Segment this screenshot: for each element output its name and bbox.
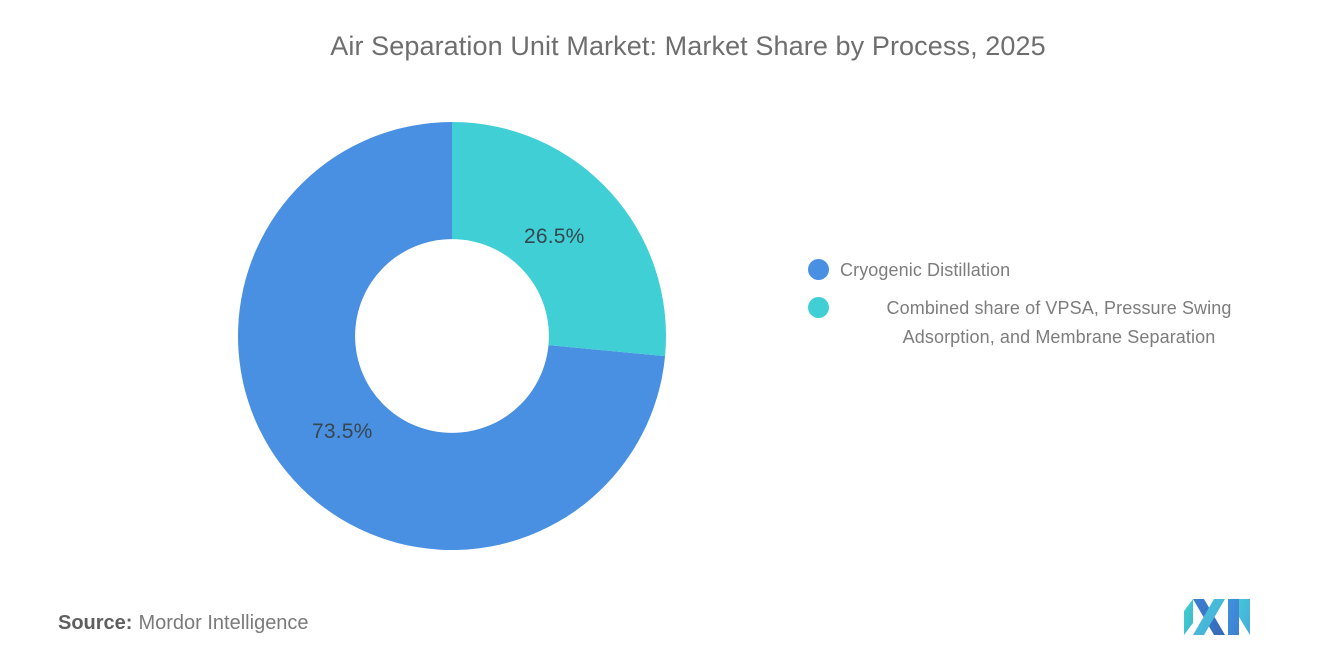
donut-chart (238, 122, 666, 550)
source-value: Mordor Intelligence (138, 612, 308, 634)
slice-label-cryogenic-distillation: 73.5% (312, 420, 373, 444)
slice-label-combined-vpsa-psa-membrane: 26.5% (524, 225, 585, 249)
source-note: Source:Mordor Intelligence (58, 612, 309, 635)
legend-swatch-icon-combined-vpsa-psa-membrane (808, 297, 829, 318)
legend-label-cryogenic-distillation: Cryogenic Distillation (840, 256, 1278, 285)
mi-monogram-svg (1184, 599, 1252, 636)
mordor-intelligence-logo-icon (1184, 599, 1252, 636)
legend-item-cryogenic-distillation[interactable]: Cryogenic Distillation (808, 256, 1278, 285)
donut-center-hole (355, 239, 549, 433)
donut-chart-svg (238, 122, 666, 550)
source-label: Source: (58, 612, 132, 634)
chart-canvas: Air Separation Unit Market: Market Share… (0, 0, 1320, 665)
page-title: Air Separation Unit Market: Market Share… (0, 31, 1320, 62)
legend-item-combined-vpsa-psa-membrane[interactable]: Combined share of VPSA, Pressure Swing A… (808, 294, 1278, 352)
legend-label-combined-vpsa-psa-membrane: Combined share of VPSA, Pressure Swing A… (840, 294, 1278, 352)
legend-swatch-icon-cryogenic-distillation (808, 259, 829, 280)
chart-legend: Cryogenic Distillation Combined share of… (808, 256, 1278, 361)
